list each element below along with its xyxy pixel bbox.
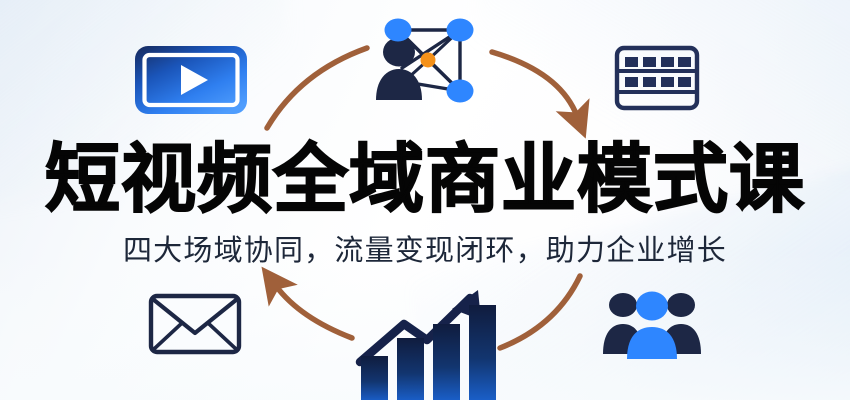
network-node: [447, 80, 474, 103]
network-node: [447, 19, 474, 42]
arc-arrow-top-left: [267, 48, 367, 128]
video-play-icon: 短视频: [133, 44, 249, 116]
shelf-cells-row-1: [625, 57, 691, 67]
mail-envelope-icon: 私信触达: [148, 292, 242, 356]
chart-bars: [361, 305, 496, 400]
shelf-cells-row-2: [625, 77, 691, 87]
arc-arrow-bottom-right: [500, 276, 580, 348]
user-group-icon: 用户群体: [601, 288, 703, 360]
page-title: 短视频全域商业模式课: [0, 138, 850, 220]
arc-arrow-bottom-left: [276, 286, 352, 338]
network-node: [385, 19, 412, 42]
growth-chart-icon: 增长: [352, 276, 498, 400]
network-user-icon: 私域网络: [372, 8, 478, 108]
course-promo-banner: 短视频: [0, 0, 850, 400]
page-subtitle: 四大场域协同，流量变现闭环，助力企业增长: [0, 232, 850, 270]
network-center-node: [421, 53, 436, 68]
store-shelf-icon: 商城: [614, 45, 700, 111]
text-block: 短视频全域商业模式课 四大场域协同，流量变现闭环，助力企业增长: [0, 138, 850, 270]
arc-arrow-top-right: [492, 52, 577, 116]
